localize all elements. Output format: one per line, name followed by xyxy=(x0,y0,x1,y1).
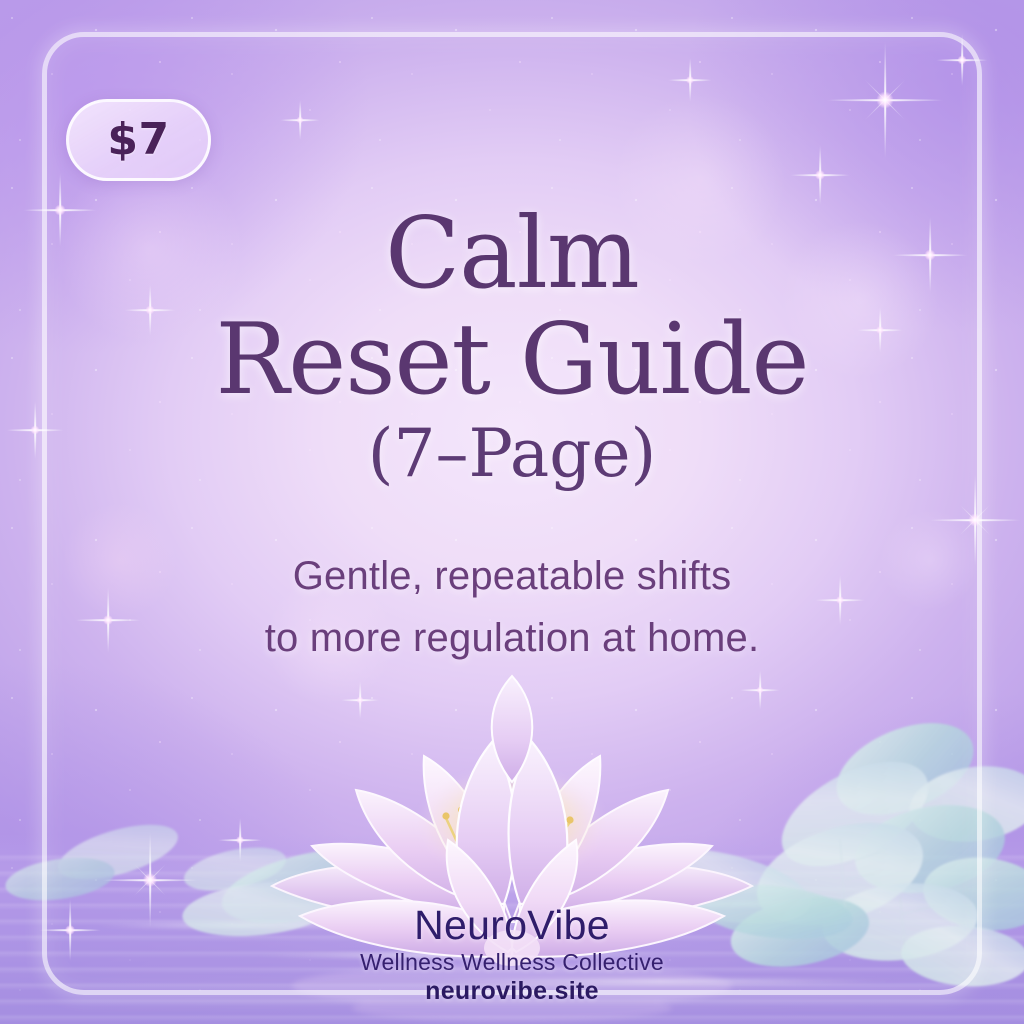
price-badge-label: $7 xyxy=(107,118,169,162)
product-card: $7 Calm Reset Guide (7–Page) Gentle, rep… xyxy=(0,0,1024,1024)
headline-block: Calm Reset Guide (7–Page) xyxy=(0,202,1024,490)
price-badge[interactable]: $7 xyxy=(66,99,211,181)
subtitle-line-two: to more regulation at home. xyxy=(0,607,1024,669)
title-line-two: Reset Guide xyxy=(0,308,1024,414)
brand-tagline: Wellness Wellness Collective xyxy=(0,949,1024,976)
subtitle-block: Gentle, repeatable shifts to more regula… xyxy=(0,545,1024,669)
brand-url[interactable]: neurovibe.site xyxy=(0,977,1024,1006)
title-line-one: Calm xyxy=(0,202,1024,308)
brand-name: NeuroVibe xyxy=(0,904,1024,947)
page-title: Calm Reset Guide xyxy=(0,202,1024,414)
footer-branding: NeuroVibe Wellness Wellness Collective n… xyxy=(0,904,1024,1006)
page-count-label: (7–Page) xyxy=(0,418,1024,491)
subtitle-line-one: Gentle, repeatable shifts xyxy=(0,545,1024,607)
